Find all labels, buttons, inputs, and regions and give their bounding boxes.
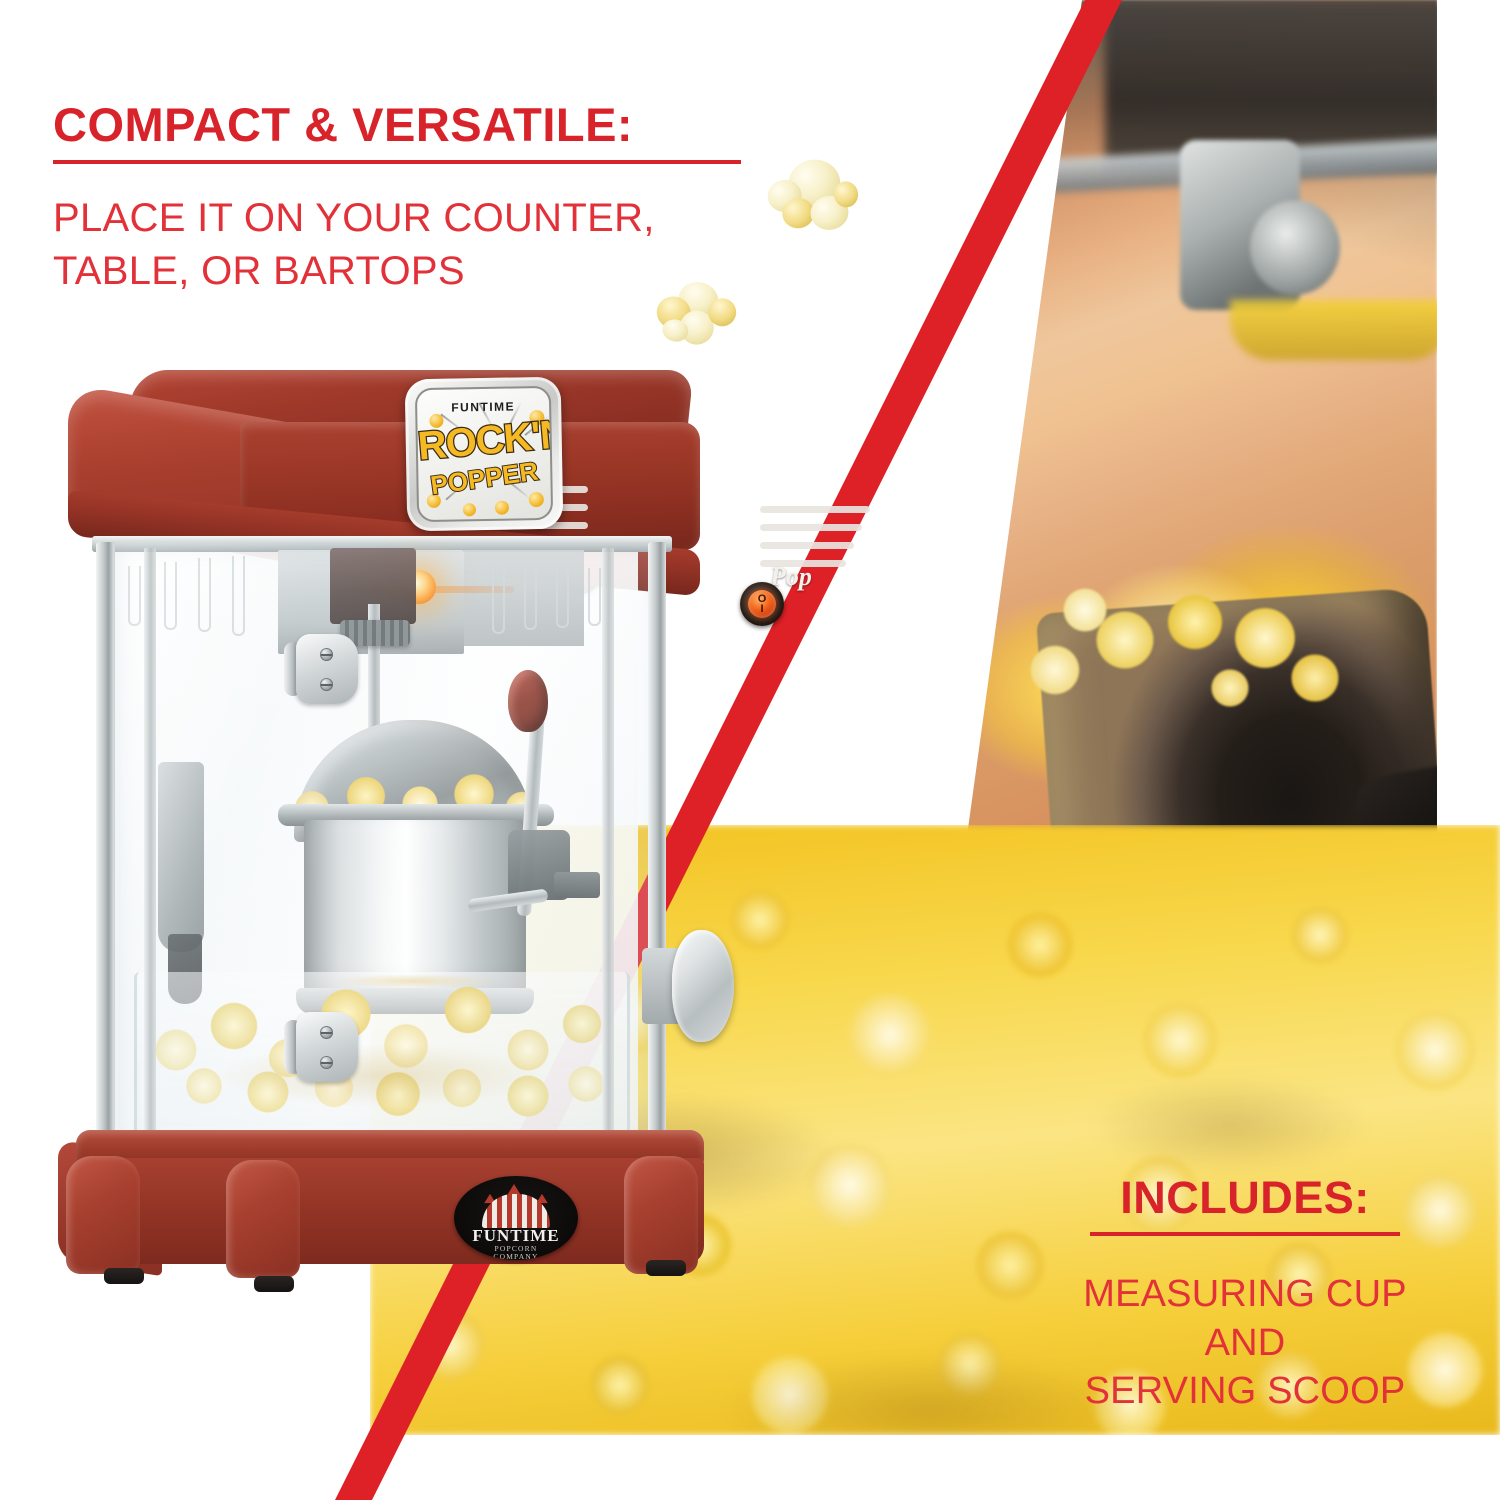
headline-block: COMPACT & VERSATILE: PLACE IT ON YOUR CO… — [53, 100, 773, 298]
cabinet-post-right — [648, 542, 666, 1148]
hinge-screw — [320, 1026, 333, 1039]
circus-tent-icon — [476, 1188, 556, 1228]
cabinet-door-hinge-bottom — [284, 1012, 358, 1082]
base-corner-pillar-left — [66, 1156, 140, 1274]
badge-face: FUNTIME ROCK'N POPPER — [415, 386, 553, 522]
badge-popcorn-dot — [463, 503, 476, 516]
promo-canvas: COMPACT & VERSATILE: PLACE IT ON YOUR CO… — [0, 0, 1500, 1500]
cabinet-door-handle[interactable] — [672, 930, 734, 1042]
cabinet-inner-post-left — [144, 548, 156, 1138]
includes-item-1: MEASURING CUP — [1010, 1270, 1480, 1319]
pop-rocker-switch[interactable]: O I — [740, 582, 784, 626]
base-foot — [254, 1276, 294, 1292]
hinge-plate — [296, 634, 358, 704]
badge-popcorn-dot — [529, 492, 544, 507]
includes-item-2: AND — [1010, 1319, 1480, 1368]
flying-popcorn-kernel-1 — [763, 154, 862, 238]
cabinet-inner-post-right — [602, 548, 614, 1138]
hood-speedline — [760, 524, 862, 531]
hinge-screw — [320, 648, 333, 661]
glass-cabinet — [72, 542, 690, 1152]
base-logo-sub-2: COMPANY — [454, 1252, 578, 1260]
scoop-photo-knob-cap — [1250, 200, 1340, 295]
machine-hood: Light Pop O I O I — [68, 370, 693, 550]
base-front-panel — [76, 1158, 704, 1264]
badge-popcorn-dot — [495, 501, 509, 515]
base-corner-pillar-middle — [226, 1160, 300, 1278]
cabinet-glass-door[interactable] — [108, 542, 666, 1148]
badge-brand-text: FUNTIME — [417, 399, 549, 415]
includes-item-3: SERVING SCOOP — [1010, 1367, 1480, 1416]
cabinet-door-hinge-top — [284, 634, 358, 704]
headline-underline — [53, 160, 741, 164]
includes-title: INCLUDES: — [1010, 1175, 1480, 1220]
cabinet-post-left — [96, 542, 114, 1148]
includes-block: INCLUDES: MEASURING CUP AND SERVING SCOO… — [1010, 1175, 1480, 1416]
includes-list: MEASURING CUP AND SERVING SCOOP — [1010, 1270, 1480, 1416]
hood-speedline — [760, 506, 870, 513]
scoop-photo-kettle-lip — [1230, 300, 1437, 360]
hinge-plate — [296, 1012, 358, 1082]
popcorn-machine: Light Pop O I O I — [58, 352, 718, 1292]
subhead-line-1: PLACE IT ON YOUR COUNTER, — [53, 192, 773, 245]
rockn-popper-badge: FUNTIME ROCK'N POPPER — [405, 377, 564, 532]
hood-speedline — [760, 542, 854, 549]
hinge-screw — [320, 1056, 333, 1069]
base-foot — [646, 1260, 686, 1276]
scoop-popcorn-heap — [1015, 560, 1345, 730]
base-foot — [104, 1268, 144, 1284]
machine-base: FUNTIME POPCORN COMPANY — [58, 1130, 718, 1302]
hinge-screw — [320, 678, 333, 691]
base-logo-brand: FUNTIME — [454, 1226, 578, 1246]
funtime-base-logo: FUNTIME POPCORN COMPANY — [454, 1176, 578, 1260]
page-title: COMPACT & VERSATILE: — [53, 100, 773, 149]
pop-switch-lens: O I — [748, 590, 776, 618]
pop-switch-off-mark: I — [760, 604, 763, 614]
base-corner-pillar-right — [624, 1156, 698, 1274]
includes-underline — [1090, 1232, 1400, 1236]
